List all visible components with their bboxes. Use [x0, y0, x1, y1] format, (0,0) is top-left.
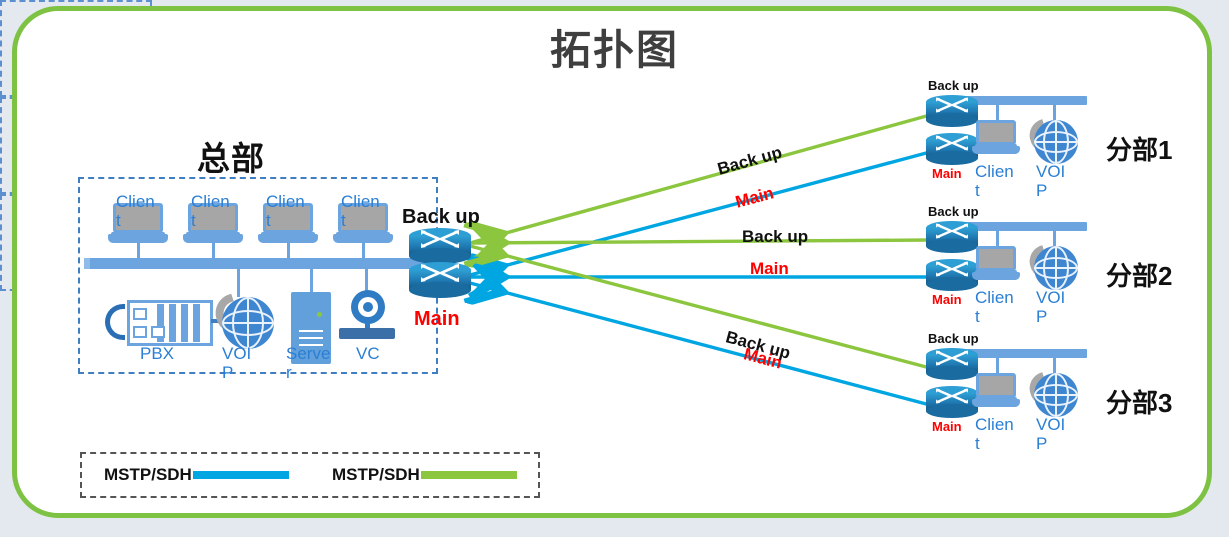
link-label-main-branch2: Main	[750, 259, 789, 279]
legend-swatch-backup	[421, 471, 517, 479]
router-arrows-icon	[926, 259, 978, 279]
link-backup-branch2	[470, 240, 930, 243]
branch2-router-backup-label: Back up	[928, 204, 979, 219]
vc-label: VC	[356, 345, 408, 363]
legend-item-main[interactable]: MSTP/SDH	[104, 465, 289, 485]
laptop-base-icon	[972, 399, 1020, 407]
branch3-voip-globe-icon[interactable]	[1034, 373, 1078, 417]
router-arrows-icon	[926, 95, 978, 115]
branch3-router-backup-label: Back up	[928, 331, 979, 346]
branch2-client-label-line1: Clien	[975, 289, 1014, 307]
headquarters-bus-cap	[84, 258, 90, 269]
branch1-router-main[interactable]	[926, 133, 978, 165]
laptop-base-icon	[972, 272, 1020, 280]
link-main-branch1	[470, 152, 930, 275]
router-arrows-icon	[926, 133, 978, 153]
voip-label-line1: VOI	[222, 345, 274, 363]
branch1-router-backup-label: Back up	[928, 78, 979, 93]
router-arrows-icon	[926, 221, 978, 241]
branch3-voip-label-line2: P	[1036, 435, 1047, 453]
branch1-router-backup[interactable]	[926, 95, 978, 127]
hq-router-backup-label: Back up	[402, 206, 480, 229]
branch3-name: 分部3	[1106, 383, 1172, 420]
branch3-client-label-line1: Clien	[975, 416, 1014, 434]
branch1-voip-label-line1: VOI	[1036, 163, 1065, 181]
hq-client-label-1-line2: t	[116, 212, 162, 230]
branch1-router-main-label: Main	[932, 166, 962, 181]
legend-item-backup[interactable]: MSTP/SDH	[332, 465, 517, 485]
server-led-icon	[317, 312, 322, 317]
hq-client-label-4-line1: Clien	[341, 193, 387, 211]
hq-server-riser	[310, 264, 313, 293]
hq-router-main[interactable]	[409, 262, 471, 298]
pbx-label: PBX	[140, 345, 192, 363]
branch1-client-laptop[interactable]	[972, 120, 1020, 158]
hq-client-label-3-line2: t	[266, 212, 312, 230]
laptop-base-icon	[108, 234, 168, 243]
headquarters-title: 总部	[197, 132, 265, 180]
router-arrows-icon	[926, 386, 978, 406]
hq-client-drop-4	[362, 243, 365, 260]
hq-client-drop-3	[287, 243, 290, 260]
branch3-router-backup[interactable]	[926, 348, 978, 380]
hq-client-label-4-line2: t	[341, 212, 387, 230]
laptop-base-icon	[972, 146, 1020, 154]
branch1-client-label-line1: Clien	[975, 163, 1014, 181]
branch3-voip-label-line1: VOI	[1036, 416, 1065, 434]
server-label-line1: Serve	[286, 345, 338, 363]
hq-router-backup[interactable]	[409, 228, 471, 264]
branch1-client-label-line2: t	[975, 182, 980, 200]
branch2-voip-label-line1: VOI	[1036, 289, 1065, 307]
branch2-voip-label-line2: P	[1036, 308, 1047, 326]
branch2-router-main[interactable]	[926, 259, 978, 291]
vc-camera-icon[interactable]	[339, 290, 395, 340]
legend-label-backup: MSTP/SDH	[332, 465, 420, 485]
server-label-line2: r	[286, 364, 338, 382]
router-arrows-icon	[409, 262, 471, 284]
hq-client-drop-2	[212, 243, 215, 260]
voip-globe-icon[interactable]	[222, 297, 274, 349]
router-arrows-icon	[926, 348, 978, 368]
branch1-name: 分部1	[1106, 130, 1172, 167]
branch3-router-main[interactable]	[926, 386, 978, 418]
hq-client-label-1-line1: Clien	[116, 193, 162, 211]
laptop-base-icon	[258, 234, 318, 243]
topology-diagram-canvas: 拓扑图 Back up Main Back up Main Back up Ma…	[0, 0, 1229, 537]
legend-swatch-main	[193, 471, 289, 479]
hq-router-main-label: Main	[414, 308, 460, 331]
pbx-icon[interactable]	[105, 296, 213, 350]
branch3-client-label-line2: t	[975, 435, 980, 453]
hq-client-label-2-line2: t	[191, 212, 237, 230]
branch2-router-main-label: Main	[932, 292, 962, 307]
laptop-screen-icon	[976, 120, 1016, 145]
hq-voip-riser	[237, 264, 240, 297]
legend: MSTP/SDH MSTP/SDH	[80, 452, 540, 498]
link-backup-branch1	[470, 115, 930, 243]
branch2-voip-globe-icon[interactable]	[1034, 246, 1078, 290]
link-main-branch3	[470, 283, 930, 405]
hq-client-label-2-line1: Clien	[191, 193, 237, 211]
branch2-client-laptop[interactable]	[972, 246, 1020, 284]
branch2-router-backup[interactable]	[926, 221, 978, 253]
branch1-voip-label-line2: P	[1036, 182, 1047, 200]
hq-client-drop-1	[137, 243, 140, 260]
branch3-client-laptop[interactable]	[972, 373, 1020, 411]
laptop-base-icon	[183, 234, 243, 243]
branch2-client-label-line2: t	[975, 308, 980, 326]
laptop-base-icon	[333, 234, 393, 243]
link-label-backup-branch2: Back up	[742, 227, 808, 247]
router-arrows-icon	[409, 228, 471, 250]
voip-label-line2: P	[222, 364, 274, 382]
branch1-voip-globe-icon[interactable]	[1034, 120, 1078, 164]
branch3-router-main-label: Main	[932, 419, 962, 434]
hq-client-label-3-line1: Clien	[266, 193, 312, 211]
link-backup-branch3	[470, 246, 930, 368]
laptop-screen-icon	[976, 373, 1016, 398]
legend-label-main: MSTP/SDH	[104, 465, 192, 485]
laptop-screen-icon	[976, 246, 1016, 271]
branch2-name: 分部2	[1106, 256, 1172, 293]
pbx-handset-icon	[105, 304, 125, 340]
hq-vc-riser	[365, 264, 368, 291]
